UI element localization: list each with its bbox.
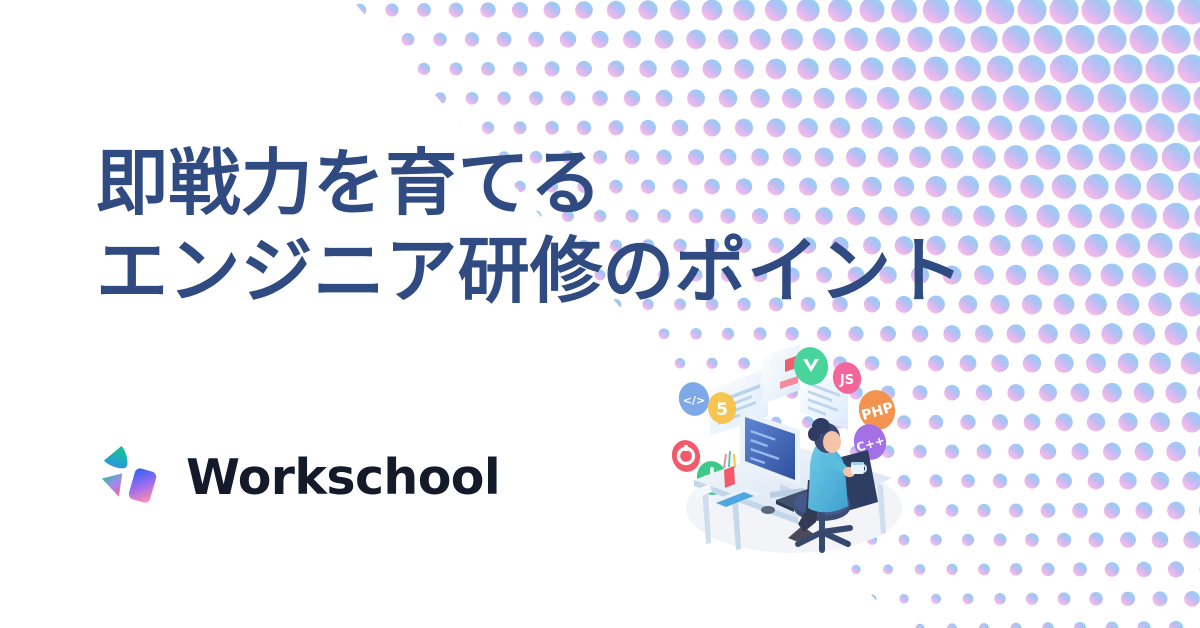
svg-text:JS: JS	[839, 373, 854, 388]
svg-text:5: 5	[716, 400, 728, 420]
ogp-banner: 即戦力を育てる エンジニア研修のポイント	[0, 0, 1200, 628]
workschool-wordmark: Workschool	[186, 453, 500, 502]
headline-line-2: エンジニア研修のポイント	[96, 228, 1076, 316]
brand-logo: Workschool	[96, 443, 500, 511]
developer-at-desk-illustration: </> 5 JS PHP C++	[672, 338, 922, 564]
workschool-logo-mark	[96, 443, 164, 511]
page-title: 即戦力を育てる エンジニア研修のポイント	[96, 140, 1076, 316]
svg-text:</>: </>	[683, 394, 705, 407]
headline-line-1: 即戦力を育てる	[96, 140, 1076, 228]
tech-badge-code: </>	[675, 379, 713, 420]
